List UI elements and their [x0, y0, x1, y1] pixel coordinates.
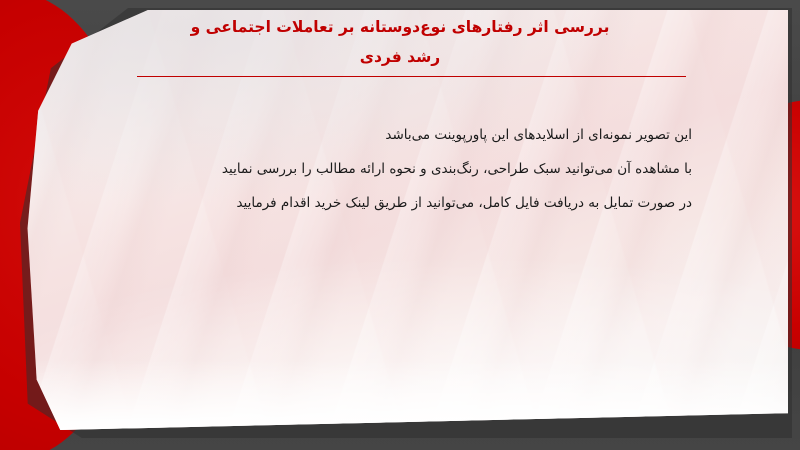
slide-body-text: این تصویر نمونه‌ای از اسلایدهای این پاور… [132, 118, 692, 220]
body-line-1: این تصویر نمونه‌ای از اسلایدهای این پاور… [132, 118, 692, 152]
panel-diagonal-streaks-secondary [26, 10, 788, 430]
content-panel [26, 10, 788, 430]
body-line-3: در صورت تمایل به دریافت فایل کامل، می‌تو… [132, 186, 692, 220]
title-underline-rule [137, 76, 686, 77]
panel-diagonal-streaks [26, 10, 788, 430]
slide-title: بررسی اثر رفتارهای نوع‌دوستانه بر تعاملا… [120, 12, 680, 72]
body-line-2: با مشاهده آن می‌توانید سبک طراحی، رنگ‌بن… [132, 152, 692, 186]
slide-title-line-1: بررسی اثر رفتارهای نوع‌دوستانه بر تعاملا… [120, 12, 680, 42]
slide-title-line-2: رشد فردی [120, 42, 680, 72]
presentation-slide: بررسی اثر رفتارهای نوع‌دوستانه بر تعاملا… [0, 0, 800, 450]
panel-sheen [26, 10, 788, 430]
